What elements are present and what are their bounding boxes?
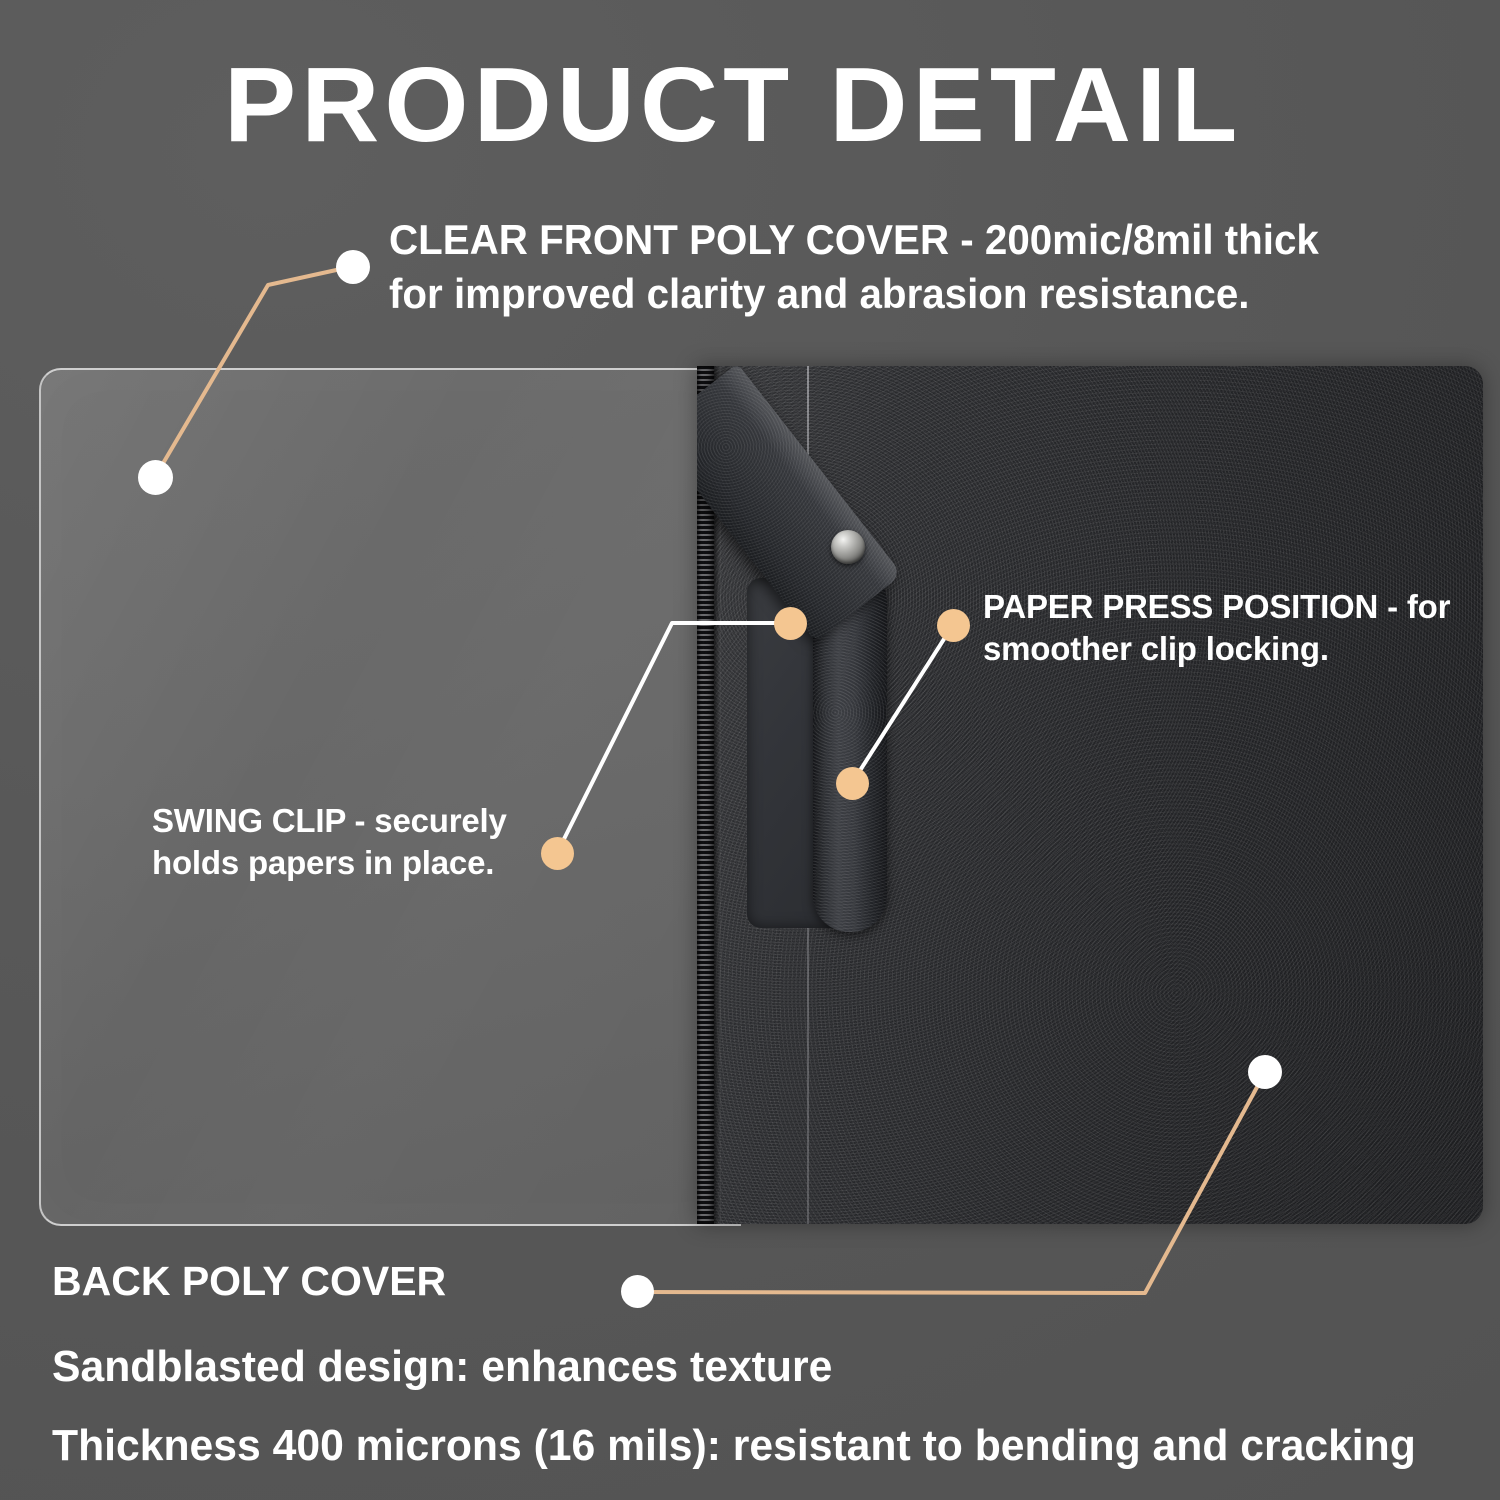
callout-paper-press-body: smoother clip locking. xyxy=(983,628,1483,670)
callout-clear-cover-heading: CLEAR FRONT POLY COVER - 200mic/8mil thi… xyxy=(389,213,1407,267)
marker-dot-back-cover-anchor xyxy=(1248,1055,1282,1089)
marker-dot-paper-press-anchor xyxy=(836,767,869,800)
page-title: PRODUCT DETAIL xyxy=(224,52,1366,158)
callout-paper-press-heading: PAPER PRESS POSITION - for xyxy=(983,586,1483,628)
callout-swing-clip: SWING CLIP - securely holds papers in pl… xyxy=(152,800,552,884)
callout-paper-press-position: PAPER PRESS POSITION - for smoother clip… xyxy=(983,586,1483,670)
callout-swing-clip-body: holds papers in place. xyxy=(152,842,552,884)
marker-dot-clear-cover-label xyxy=(336,250,370,284)
back-cover-feature-line-2: Thickness 400 microns (16 mils): resista… xyxy=(52,1424,1416,1468)
back-cover-feature-line-1: Sandblasted design: enhances texture xyxy=(52,1345,832,1389)
clear-cover-sheen xyxy=(41,370,741,1224)
metal-rivet-icon xyxy=(831,530,865,564)
marker-dot-back-cover-label xyxy=(621,1275,654,1308)
infographic-canvas: PRODUCT DETAIL CLEAR FRONT POLY COVER - … xyxy=(0,0,1500,1500)
marker-dot-clear-cover-anchor xyxy=(138,460,173,495)
marker-dot-paper-press-label xyxy=(937,609,970,642)
callout-swing-clip-heading: SWING CLIP - securely xyxy=(152,800,552,842)
callout-clear-front-poly-cover: CLEAR FRONT POLY COVER - 200mic/8mil thi… xyxy=(389,213,1407,321)
marker-dot-swing-clip-anchor xyxy=(774,607,807,640)
clear-front-poly-cover xyxy=(39,368,741,1226)
black-back-poly-cover xyxy=(697,366,1483,1224)
back-cover-heading: BACK POLY COVER xyxy=(52,1261,446,1302)
callout-clear-cover-body: for improved clarity and abrasion resist… xyxy=(389,267,1407,321)
